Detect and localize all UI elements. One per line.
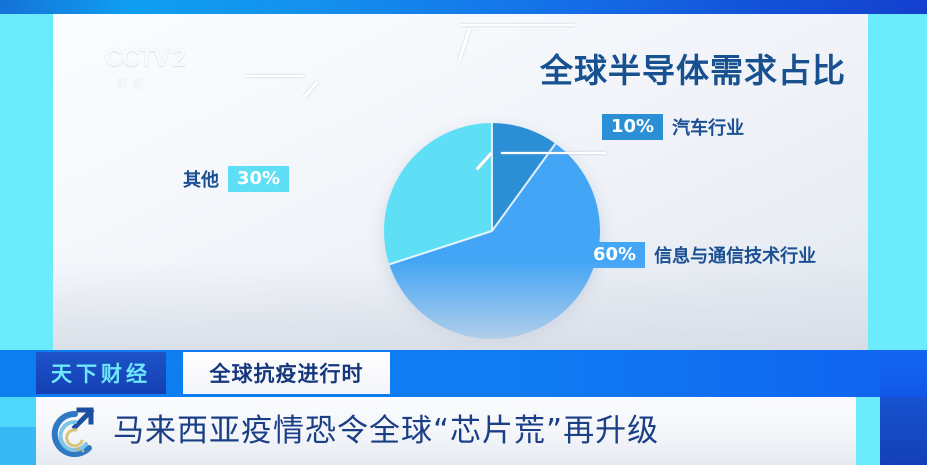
segment-title-box: 全球抗疫进行时 (183, 352, 390, 394)
pie-value-badge-ict: 60% (584, 242, 645, 268)
pie-label-text-auto: 汽车行业 (672, 114, 744, 140)
chart-title: 全球半导体需求占比 (540, 44, 846, 92)
cctv-channel-number: 2 (172, 46, 185, 71)
headline-text: 马来西亚疫情恐令全球“芯片荒”再升级 (113, 405, 659, 450)
headline-accent-cyan (0, 397, 36, 427)
bottom-right-blue-block (880, 397, 927, 465)
right-cyan-band (868, 14, 927, 350)
pie-graphic (384, 123, 600, 339)
cctv-channel-subtitle: 财经 (117, 75, 210, 91)
slice-separator (491, 123, 493, 231)
pie-label-text-ict: 信息与通信技术行业 (654, 242, 816, 268)
chart-stage: CCTV2 财经 清 全球半导体需求占比 10% 汽车行业 60 (53, 14, 868, 350)
program-tag-label: 天下财经 (51, 358, 151, 388)
program-tag: 天下财经 (36, 352, 166, 394)
headline-accent-bars (0, 397, 36, 465)
leader-line-ict-h (501, 152, 606, 154)
pie-chart (384, 123, 600, 339)
pie-label-ict: 60% 信息与通信技术行业 (584, 242, 816, 268)
cctv-logo-text: CCTV (105, 44, 169, 72)
bottom-right-cyan-strip (856, 397, 880, 465)
slice-separator (491, 143, 556, 232)
leader-line-auto (458, 27, 471, 60)
slice-separator (389, 230, 492, 265)
pie-label-other: 其他 30% (183, 166, 289, 192)
cctv-channel-watermark: CCTV2 财经 (105, 46, 210, 102)
leader-line-other (303, 81, 318, 98)
pie-value-badge-auto: 10% (602, 114, 663, 140)
bottom-right-blue-block-top (880, 350, 927, 397)
pie-value-badge-other: 30% (228, 166, 289, 192)
segment-title-label: 全球抗疫进行时 (210, 358, 364, 388)
broadcast-frame: CCTV2 财经 清 全球半导体需求占比 10% 汽车行业 60 (0, 0, 927, 465)
finance-channel-logo-icon (45, 400, 103, 460)
pie-label-auto: 10% 汽车行业 (602, 114, 744, 140)
headline-accent-blue (0, 427, 36, 465)
top-accent-strip (0, 0, 927, 14)
pie-label-text-other: 其他 (183, 166, 219, 192)
leader-line-auto-h (459, 24, 575, 26)
left-cyan-band (0, 14, 53, 350)
leader-line-other-h (246, 75, 304, 77)
